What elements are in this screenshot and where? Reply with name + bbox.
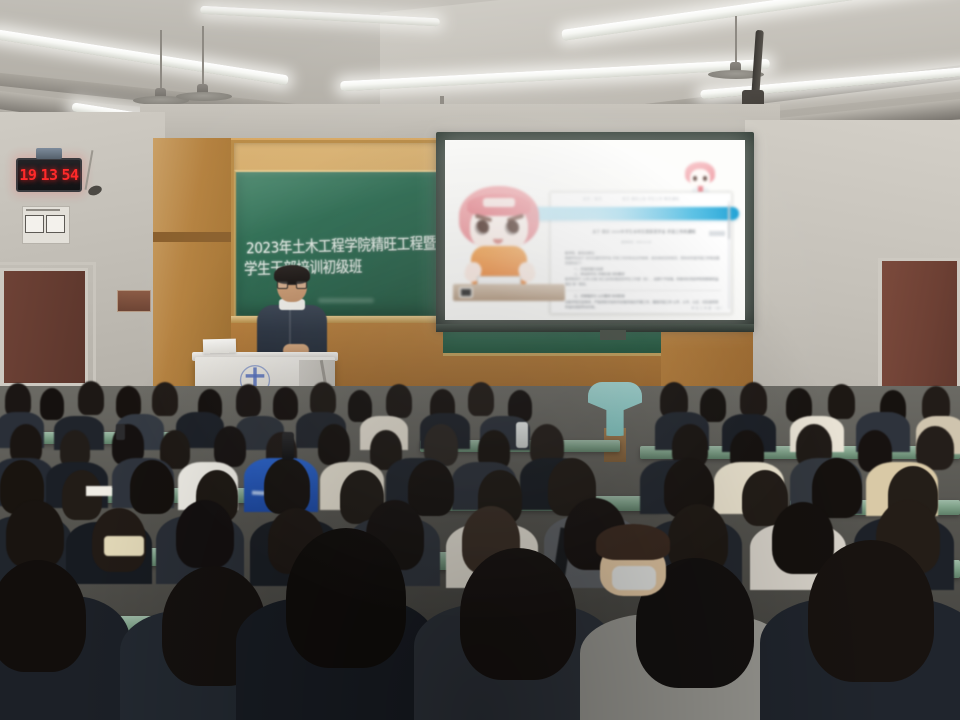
lecture-hall-photo: 19 13 54 2023年土木工程学院精旺工程暨 学生干部培训初级班	[0, 0, 960, 720]
doc-title: 关于 做好 2024年学生本科生国家奖学金 评选工作的通知	[569, 229, 719, 235]
mascot-monitor-icon	[459, 287, 473, 298]
snack-bag	[104, 536, 144, 556]
doc-header-band	[523, 207, 739, 220]
doc-scrollbar[interactable]	[728, 201, 730, 309]
no-photo-icon	[25, 215, 44, 233]
paper-on-desk	[86, 486, 112, 496]
clock-bracket	[36, 148, 62, 159]
list-item	[6, 500, 64, 568]
list-item	[460, 548, 576, 680]
wood-panel-seam	[153, 232, 231, 242]
clock-hours: 19	[19, 166, 36, 184]
eyeglasses-icon	[277, 281, 307, 289]
list-item	[386, 384, 412, 418]
list-item	[0, 560, 86, 672]
fan-rod	[160, 30, 162, 92]
list-item	[740, 382, 767, 417]
list-item	[286, 528, 406, 668]
list-item	[264, 458, 310, 514]
list-item	[176, 500, 234, 568]
doc-footer: 学生工作部（处）	[691, 306, 725, 310]
fan-rod	[202, 26, 204, 88]
list-item	[273, 387, 298, 420]
face-mask	[612, 566, 656, 590]
doc-body: 各学院、各有关单位： 根据学校关于 本科生国家奖学金 评审工作的有关文件精神，结…	[565, 251, 721, 310]
projection-screen: 政务 / 服务 首页 通知公告 学生工作 教务通知 关于 做好 2024年学生本…	[445, 140, 745, 320]
wall-plate-left	[117, 290, 151, 312]
screen-mount-leg	[600, 330, 626, 340]
list-item	[78, 381, 104, 415]
list-item	[318, 424, 350, 465]
slide-document: 政务 / 服务 首页 通知公告 学生工作 教务通知 关于 做好 2024年学生本…	[550, 192, 732, 314]
mascot-illustration	[453, 186, 545, 292]
list-item	[236, 384, 261, 417]
water-bottle[interactable]	[516, 422, 528, 448]
list-item	[828, 384, 855, 419]
papers-on-podium	[203, 339, 236, 354]
list-item	[152, 382, 178, 416]
list-item	[468, 382, 494, 416]
doc-paragraph: 各学院须于 12月1日前 将汇总材料报送至学生工作部（处），逾期不予受理。申报材…	[565, 277, 721, 287]
list-item	[596, 524, 670, 560]
thermos-bottle[interactable]	[282, 432, 294, 460]
list-item	[408, 460, 454, 516]
doc-subtitle: 发布时间：2023-11-20	[621, 240, 651, 244]
doc-paragraph: 根据学校关于 本科生国家奖学金 评审工作的有关文件精神，结合我校实际情况，现将本…	[565, 256, 721, 266]
list-item	[130, 460, 174, 514]
clock-seconds: 54	[62, 166, 79, 184]
list-item	[214, 426, 246, 467]
list-item	[40, 388, 64, 420]
ceiling-fan-blades	[176, 92, 232, 101]
clock-minutes: 13	[40, 166, 57, 184]
doc-breadcrumb-left: 政务 / 服务	[583, 196, 602, 201]
list-item	[310, 382, 336, 416]
phone-in-hand[interactable]	[116, 424, 125, 440]
list-item	[808, 540, 934, 682]
wall-digital-clock: 19 13 54	[16, 158, 82, 192]
screen-bottom-bar	[436, 324, 754, 332]
presenter	[253, 268, 329, 360]
doc-attachment-tag[interactable]	[709, 231, 725, 236]
no-smoking-icon	[46, 215, 65, 233]
no-smoking-sign	[22, 206, 70, 244]
fan-rod	[735, 16, 737, 66]
classroom-door-left[interactable]	[0, 268, 88, 386]
doc-breadcrumb-right: 首页 通知公告 学生工作 教务通知	[622, 196, 679, 201]
